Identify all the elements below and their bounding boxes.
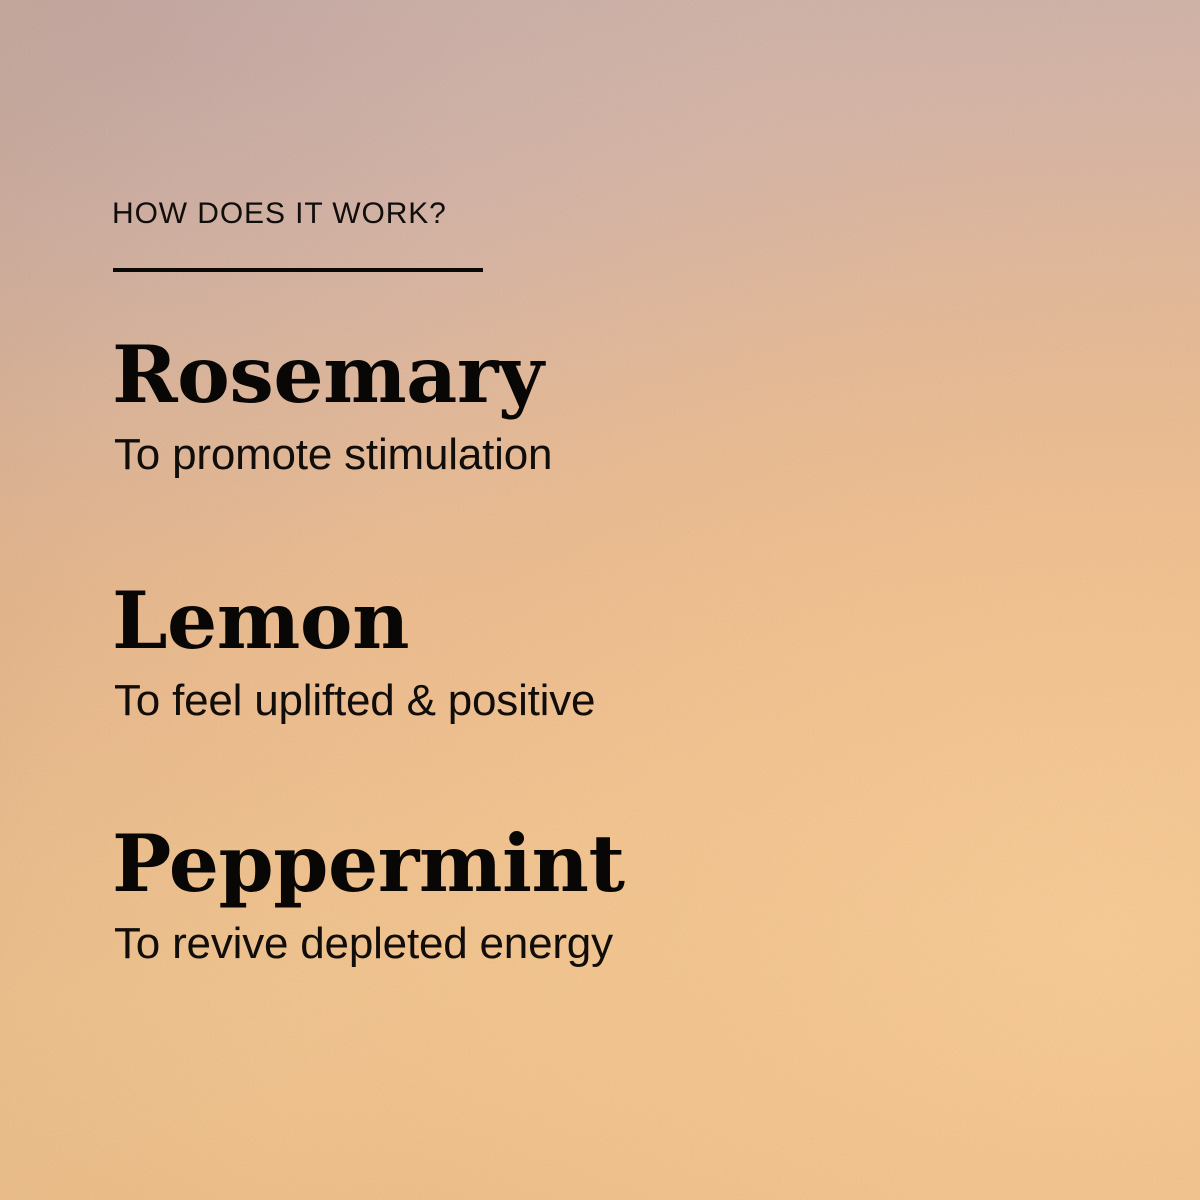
ingredient-name: Peppermint xyxy=(112,821,1072,907)
ingredient-item-rosemary: Rosemary To promote stimulation xyxy=(112,332,1072,482)
eyebrow-divider-rule xyxy=(113,268,483,272)
card-content: HOW DOES IT WORK? Rosemary To promote st… xyxy=(112,0,1112,1200)
ingredient-name: Lemon xyxy=(112,578,1072,664)
ingredient-benefits-card: HOW DOES IT WORK? Rosemary To promote st… xyxy=(0,0,1200,1200)
ingredient-description: To feel uplifted & positive xyxy=(114,674,1072,728)
ingredient-description: To promote stimulation xyxy=(114,428,1072,482)
ingredient-description: To revive depleted energy xyxy=(114,917,1072,971)
ingredient-item-lemon: Lemon To feel uplifted & positive xyxy=(112,578,1072,728)
ingredient-name: Rosemary xyxy=(112,332,1072,418)
ingredient-item-peppermint: Peppermint To revive depleted energy xyxy=(112,821,1072,971)
section-eyebrow-heading: HOW DOES IT WORK? xyxy=(112,196,447,232)
